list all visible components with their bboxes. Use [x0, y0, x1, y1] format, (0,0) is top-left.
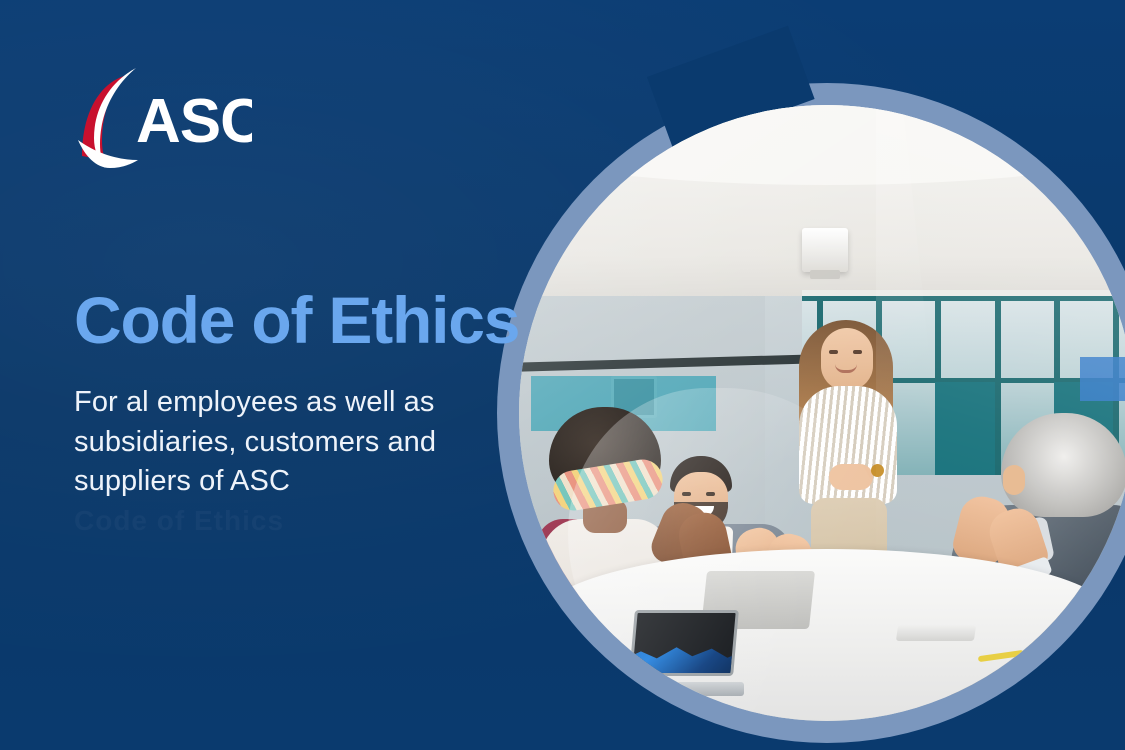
- tablet: [896, 625, 976, 641]
- page-subtitle: For al employees as well as subsidiaries…: [74, 383, 474, 502]
- glass-blue-reflection: [1080, 357, 1125, 401]
- asc-logo[interactable]: ASC: [76, 66, 252, 170]
- cover-page: ASC Code of Ethics For al employees as w…: [0, 0, 1125, 750]
- ghost-watermark-text: Code of Ethics: [74, 505, 494, 539]
- hero-circle-stage: [497, 83, 1125, 743]
- office-scene: [519, 105, 1125, 721]
- page-title: Code of Ethics: [74, 287, 519, 353]
- ceiling: [519, 105, 1125, 314]
- ceiling-projector-icon: [802, 228, 848, 272]
- ceiling-curve: [519, 105, 1125, 185]
- logo-wordmark: ASC: [136, 87, 252, 156]
- circular-meeting-photo: [519, 105, 1125, 721]
- laptop-open: [624, 610, 744, 696]
